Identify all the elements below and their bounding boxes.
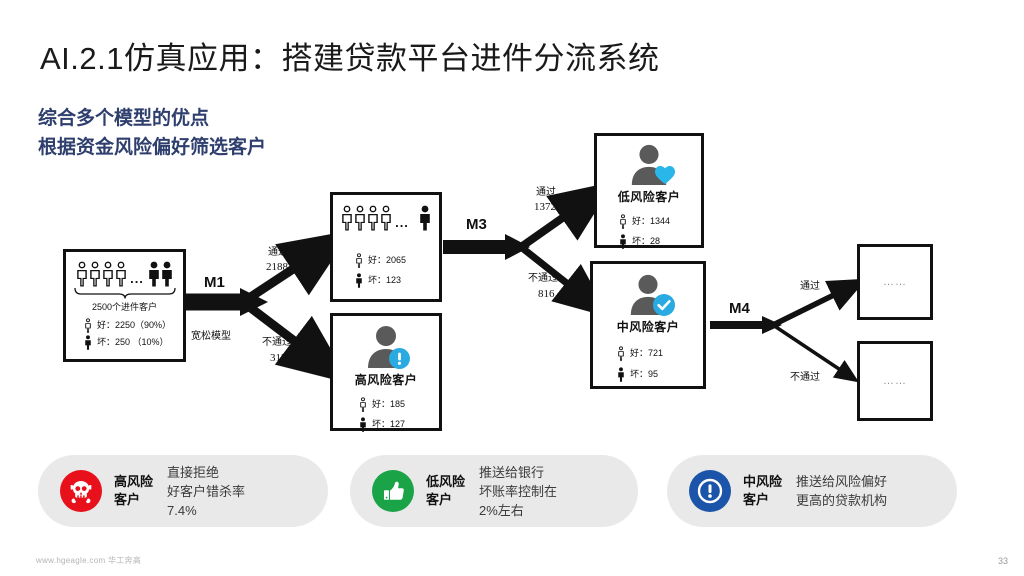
legend-mid-risk-title-line2: 客户 [743,491,782,509]
person-outline-icon [341,205,353,231]
mid-risk-title: 中风险客户 [593,318,703,335]
tail-box-top-text: …… [883,276,907,288]
legend-high-risk-desc: 直接拒绝 好客户错杀率 7.4% [167,463,245,520]
legend-high-risk-title: 高风险 客户 [114,473,153,509]
person-solid-icon [84,335,92,350]
high-risk-good-stat: 好：185 [359,397,439,412]
thumbs-up-icon [372,470,414,512]
m3-pass-label: 通过 [536,186,556,200]
input-customers-box: ... 2500个进件客户 好：2250（90%） 坏：250 （10%） [63,249,186,362]
mid-risk-good-stat: 好：721 [617,346,703,361]
legend-high-risk-desc-line2: 好客户错杀率 [167,482,245,501]
m4-fail-label: 不通过 [790,371,820,385]
person-solid-icon [161,261,173,287]
low-risk-good-label: 好：1344 [632,215,670,228]
person-solid-icon [148,261,160,287]
low-risk-bad-label: 坏：28 [632,235,660,248]
exclamation-circle-glyph [697,478,723,504]
high-risk-title: 高风险客户 [333,371,439,388]
exclamation-circle-icon [689,470,731,512]
tail-box-top: …… [857,244,933,320]
person-outline-icon [76,261,88,287]
input-good-stat: 好：2250（90%） [84,318,183,333]
high-risk-avatar [358,324,414,368]
legend-mid-risk-desc-line2: 更高的贷款机构 [796,491,887,510]
person-outline-icon [367,205,379,231]
person-solid-icon [619,234,627,249]
m3-fail-value: 816 [538,287,555,301]
legend-low-risk-desc-line3: 2%左右 [479,501,557,520]
legend-mid-risk-desc-line1: 推送给风险偏好 [796,472,887,491]
m4-pass-label: 通过 [800,280,820,294]
skull-glyph [68,478,94,504]
m3-label: M3 [466,216,487,233]
person-solid-icon [359,417,367,432]
m1-pass-label: 通过 [268,246,288,260]
person-outline-icon [89,261,101,287]
person-outline-icon [359,397,367,412]
legend-high-risk-desc-line1: 直接拒绝 [167,463,245,482]
pass-good-stat: 好：2065 [355,253,439,268]
legend-pill-mid-risk[interactable]: 中风险 客户 推送给风险偏好 更高的贷款机构 [667,455,957,527]
input-bad-stat: 坏：250 （10%） [84,335,183,350]
m4-label: M4 [729,300,750,317]
person-solid-icon [419,205,431,231]
low-risk-good-stat: 好：1344 [619,214,701,229]
high-risk-good-label: 好：185 [372,398,405,411]
input-people-ellipsis: ... [128,271,147,287]
legend-high-risk-desc-line3: 7.4% [167,501,245,520]
high-risk-box: 高风险客户 好：185 坏：127 [330,313,442,431]
exclamation-badge-icon [389,348,410,369]
pass-customers-box: ... 好：2065 坏：123 [330,192,442,302]
m4-fail-arrow [773,325,848,375]
legend-low-risk-title: 低风险 客户 [426,473,465,509]
pass-people-ellipsis: ... [393,215,412,231]
high-risk-bad-stat: 坏：127 [359,417,439,432]
footer-site: www.hgeagle.com 华工奔高 [36,555,141,566]
input-caption: 2500个进件客户 [66,300,183,313]
person-outline-icon [115,261,127,287]
legend-mid-risk-desc: 推送给风险偏好 更高的贷款机构 [796,472,887,510]
legend-low-risk-desc: 推送给银行 坏账率控制在 2%左右 [479,463,557,520]
low-risk-box: 低风险客户 好：1344 坏：28 [594,133,704,248]
legend-high-risk-title-line1: 高风险 [114,473,153,491]
tail-box-bottom: …… [857,341,933,421]
person-outline-icon [380,205,392,231]
legend-mid-risk-title: 中风险 客户 [743,473,782,509]
legend-pill-low-risk[interactable]: 低风险 客户 推送给银行 坏账率控制在 2%左右 [350,455,638,527]
page-number: 33 [998,556,1008,566]
input-people-row: ... [66,257,183,287]
person-solid-icon [617,367,625,382]
mid-risk-good-label: 好：721 [630,347,663,360]
person-outline-icon [619,214,627,229]
mid-risk-bad-label: 坏：95 [630,368,658,381]
legend-pill-high-risk[interactable]: 高风险 客户 直接拒绝 好客户错杀率 7.4% [38,455,328,527]
grouping-brace-icon [73,288,177,299]
thumbs-up-glyph [380,478,406,504]
m3-fail-label: 不通过 [528,272,558,286]
legend-high-risk-title-line2: 客户 [114,491,153,509]
m1-label: M1 [204,274,225,291]
person-solid-icon [355,273,363,288]
legend-low-risk-desc-line1: 推送给银行 [479,463,557,482]
mid-risk-avatar [621,273,675,315]
m3-pass-value: 1372 [534,200,556,214]
m1-fail-label: 不通过 [262,336,292,350]
m1-fail-value: 312 [270,351,287,365]
low-risk-avatar [622,143,676,185]
heart-badge-icon [654,165,676,185]
person-outline-icon [617,346,625,361]
skull-icon [60,470,102,512]
m1-pass-value: 2188 [266,260,288,274]
mid-risk-box: 中风险客户 好：721 坏：95 [590,261,706,389]
pass-bad-label: 坏：123 [368,274,401,287]
legend-low-risk-title-line2: 客户 [426,491,465,509]
m1-sublabel: 宽松模型 [191,327,231,342]
tail-box-bottom-text: …… [883,375,907,387]
high-risk-bad-label: 坏：127 [372,418,405,431]
check-badge-icon [653,294,675,316]
pass-people-row: ... [333,201,439,231]
legend-mid-risk-title-line1: 中风险 [743,473,782,491]
person-outline-icon [355,253,363,268]
mid-risk-bad-stat: 坏：95 [617,367,703,382]
person-outline-icon [354,205,366,231]
input-good-label: 好：2250（90%） [97,319,171,332]
pass-bad-stat: 坏：123 [355,273,439,288]
legend-low-risk-desc-line2: 坏账率控制在 [479,482,557,501]
legend-low-risk-title-line1: 低风险 [426,473,465,491]
pass-good-label: 好：2065 [368,254,406,267]
low-risk-title: 低风险客户 [597,188,701,205]
low-risk-bad-stat: 坏：28 [619,234,701,249]
person-outline-icon [84,318,92,333]
person-outline-icon [102,261,114,287]
slide-root: AI.2.1仿真应用：搭建贷款平台进件分流系统 综合多个模型的优点 根据资金风险… [0,0,1024,576]
input-bad-label: 坏：250 （10%） [97,336,169,349]
